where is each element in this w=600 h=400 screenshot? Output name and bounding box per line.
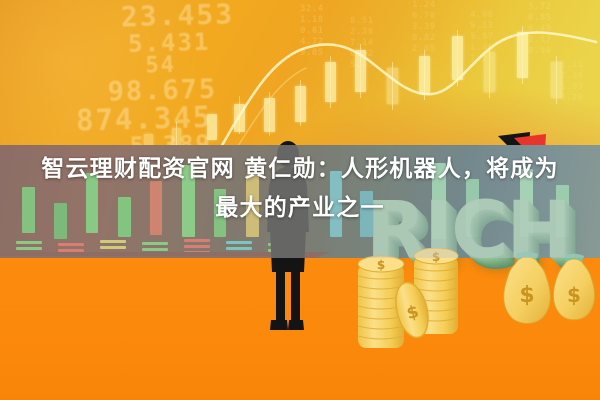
candlestick [452, 36, 463, 80]
candlestick [355, 50, 366, 92]
candlestick [234, 104, 245, 132]
headline-overlay-band [0, 145, 600, 258]
candlestick [207, 114, 217, 140]
candlestick [325, 62, 336, 102]
candlestick [387, 68, 398, 104]
candlestick [484, 52, 495, 92]
candlestick [419, 56, 430, 94]
banner-image: 23.453 5.431 54 98.675 874.345 5.389 2.3… [0, 0, 600, 400]
candlestick [551, 62, 562, 98]
candlestick [517, 32, 528, 78]
candlestick [264, 98, 275, 132]
candlestick [295, 86, 306, 122]
